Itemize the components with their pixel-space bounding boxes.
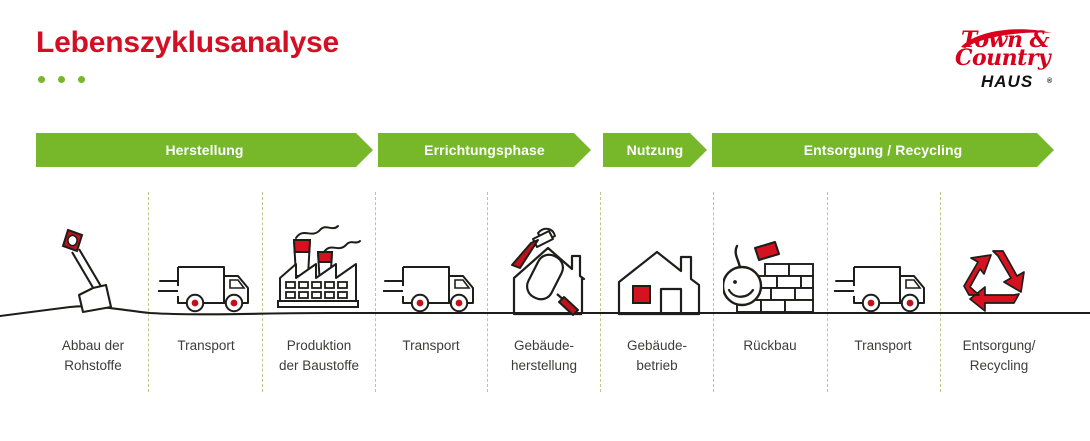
phase-banner-label: Herstellung: [165, 142, 243, 158]
caption-line: Entsorgung/Recycling: [943, 336, 1055, 375]
house-build-icon: [494, 226, 598, 316]
caption-line: Abbau derRohstoffe: [33, 336, 153, 375]
stage-caption-abbau-der-rohstoffe: Abbau derRohstoffe: [33, 336, 153, 375]
logo-registered-mark: ®: [1047, 78, 1052, 85]
caption-line: Produktionder Baustoffe: [262, 336, 376, 375]
caption-line: Transport: [376, 336, 486, 356]
stage-caption-transport-2: Transport: [376, 336, 486, 356]
phase-banner-label: Entsorgung / Recycling: [804, 142, 963, 158]
infographic-root: Lebenszyklusanalyse Town & Country HAUS …: [0, 0, 1090, 441]
stage-caption-gebaeudebetrieb: Gebäude-betrieb: [601, 336, 713, 375]
phase-banner-entsorgung-recycling[interactable]: Entsorgung / Recycling: [712, 133, 1054, 167]
phase-banner-herstellung[interactable]: Herstellung: [36, 133, 373, 167]
decorative-dots: [38, 76, 85, 83]
caption-line: Gebäude-herstellung: [488, 336, 600, 375]
town-and-country-haus-logo: Town & Country HAUS ®: [955, 28, 1055, 96]
page-title: Lebenszyklusanalyse: [36, 28, 339, 58]
wrecking-ball-icon: [723, 238, 823, 316]
phase-banner-label: Nutzung: [627, 142, 684, 158]
factory-icon: [272, 212, 374, 314]
phase-banner-label: Errichtungsphase: [424, 142, 545, 158]
stage-caption-entsorgung-recycling: Entsorgung/Recycling: [943, 336, 1055, 375]
phase-banner-errichtungsphase[interactable]: Errichtungsphase: [378, 133, 591, 167]
stage-caption-gebaeudeherstellung: Gebäude-herstellung: [488, 336, 600, 375]
caption-line: Transport: [151, 336, 261, 356]
truck-icon: [834, 258, 934, 314]
caption-line: Rückbau: [714, 336, 826, 356]
dot-1: [38, 76, 45, 83]
house-icon: [613, 244, 705, 316]
caption-line: Transport: [827, 336, 939, 356]
shovel-icon: [48, 225, 138, 317]
stage-caption-transport-3: Transport: [827, 336, 939, 356]
logo-line-3: HAUS: [981, 72, 1033, 92]
truck-icon: [158, 258, 258, 314]
truck-icon: [383, 258, 483, 314]
phase-banner-nutzung[interactable]: Nutzung: [603, 133, 707, 167]
stage-caption-produktion-der-baustoffe: Produktionder Baustoffe: [262, 336, 376, 375]
dot-3: [78, 76, 85, 83]
stage-caption-rueckbau: Rückbau: [714, 336, 826, 356]
stage-caption-transport-1: Transport: [151, 336, 261, 356]
dot-2: [58, 76, 65, 83]
recycling-icon: [962, 248, 1036, 314]
caption-line: Gebäude-betrieb: [601, 336, 713, 375]
logo-line-2: Country: [955, 48, 1055, 70]
